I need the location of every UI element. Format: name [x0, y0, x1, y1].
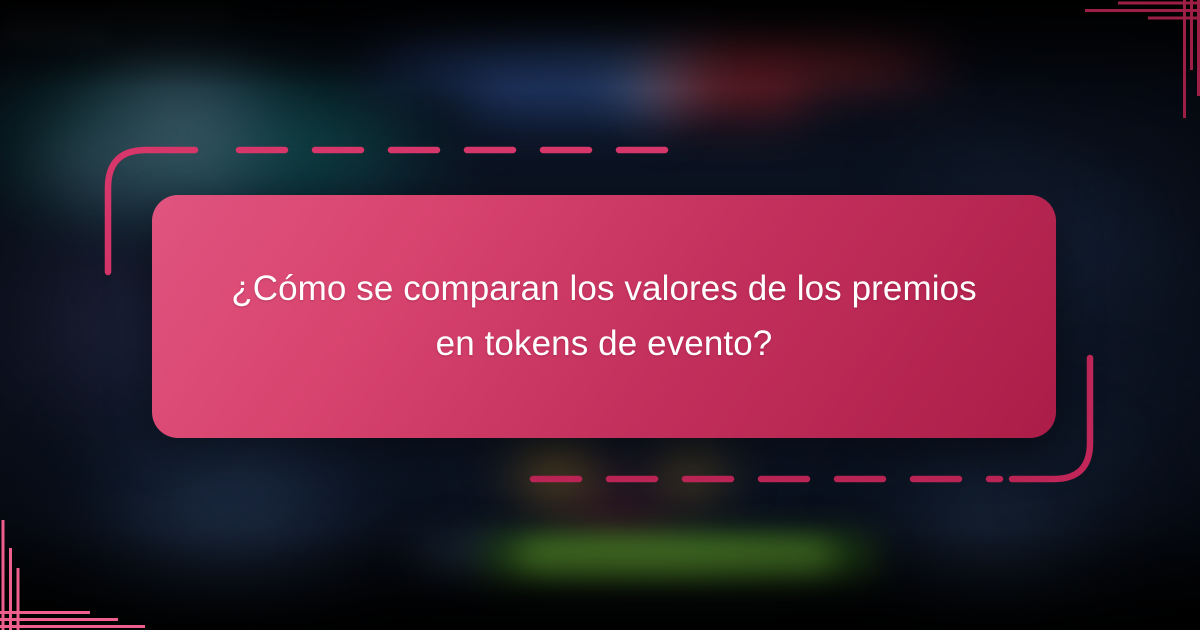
- promo-card-canvas: ¿Cómo se comparan los valores de los pre…: [0, 0, 1200, 630]
- question-text: ¿Cómo se comparan los valores de los pre…: [230, 262, 978, 371]
- question-card: ¿Cómo se comparan los valores de los pre…: [152, 195, 1056, 438]
